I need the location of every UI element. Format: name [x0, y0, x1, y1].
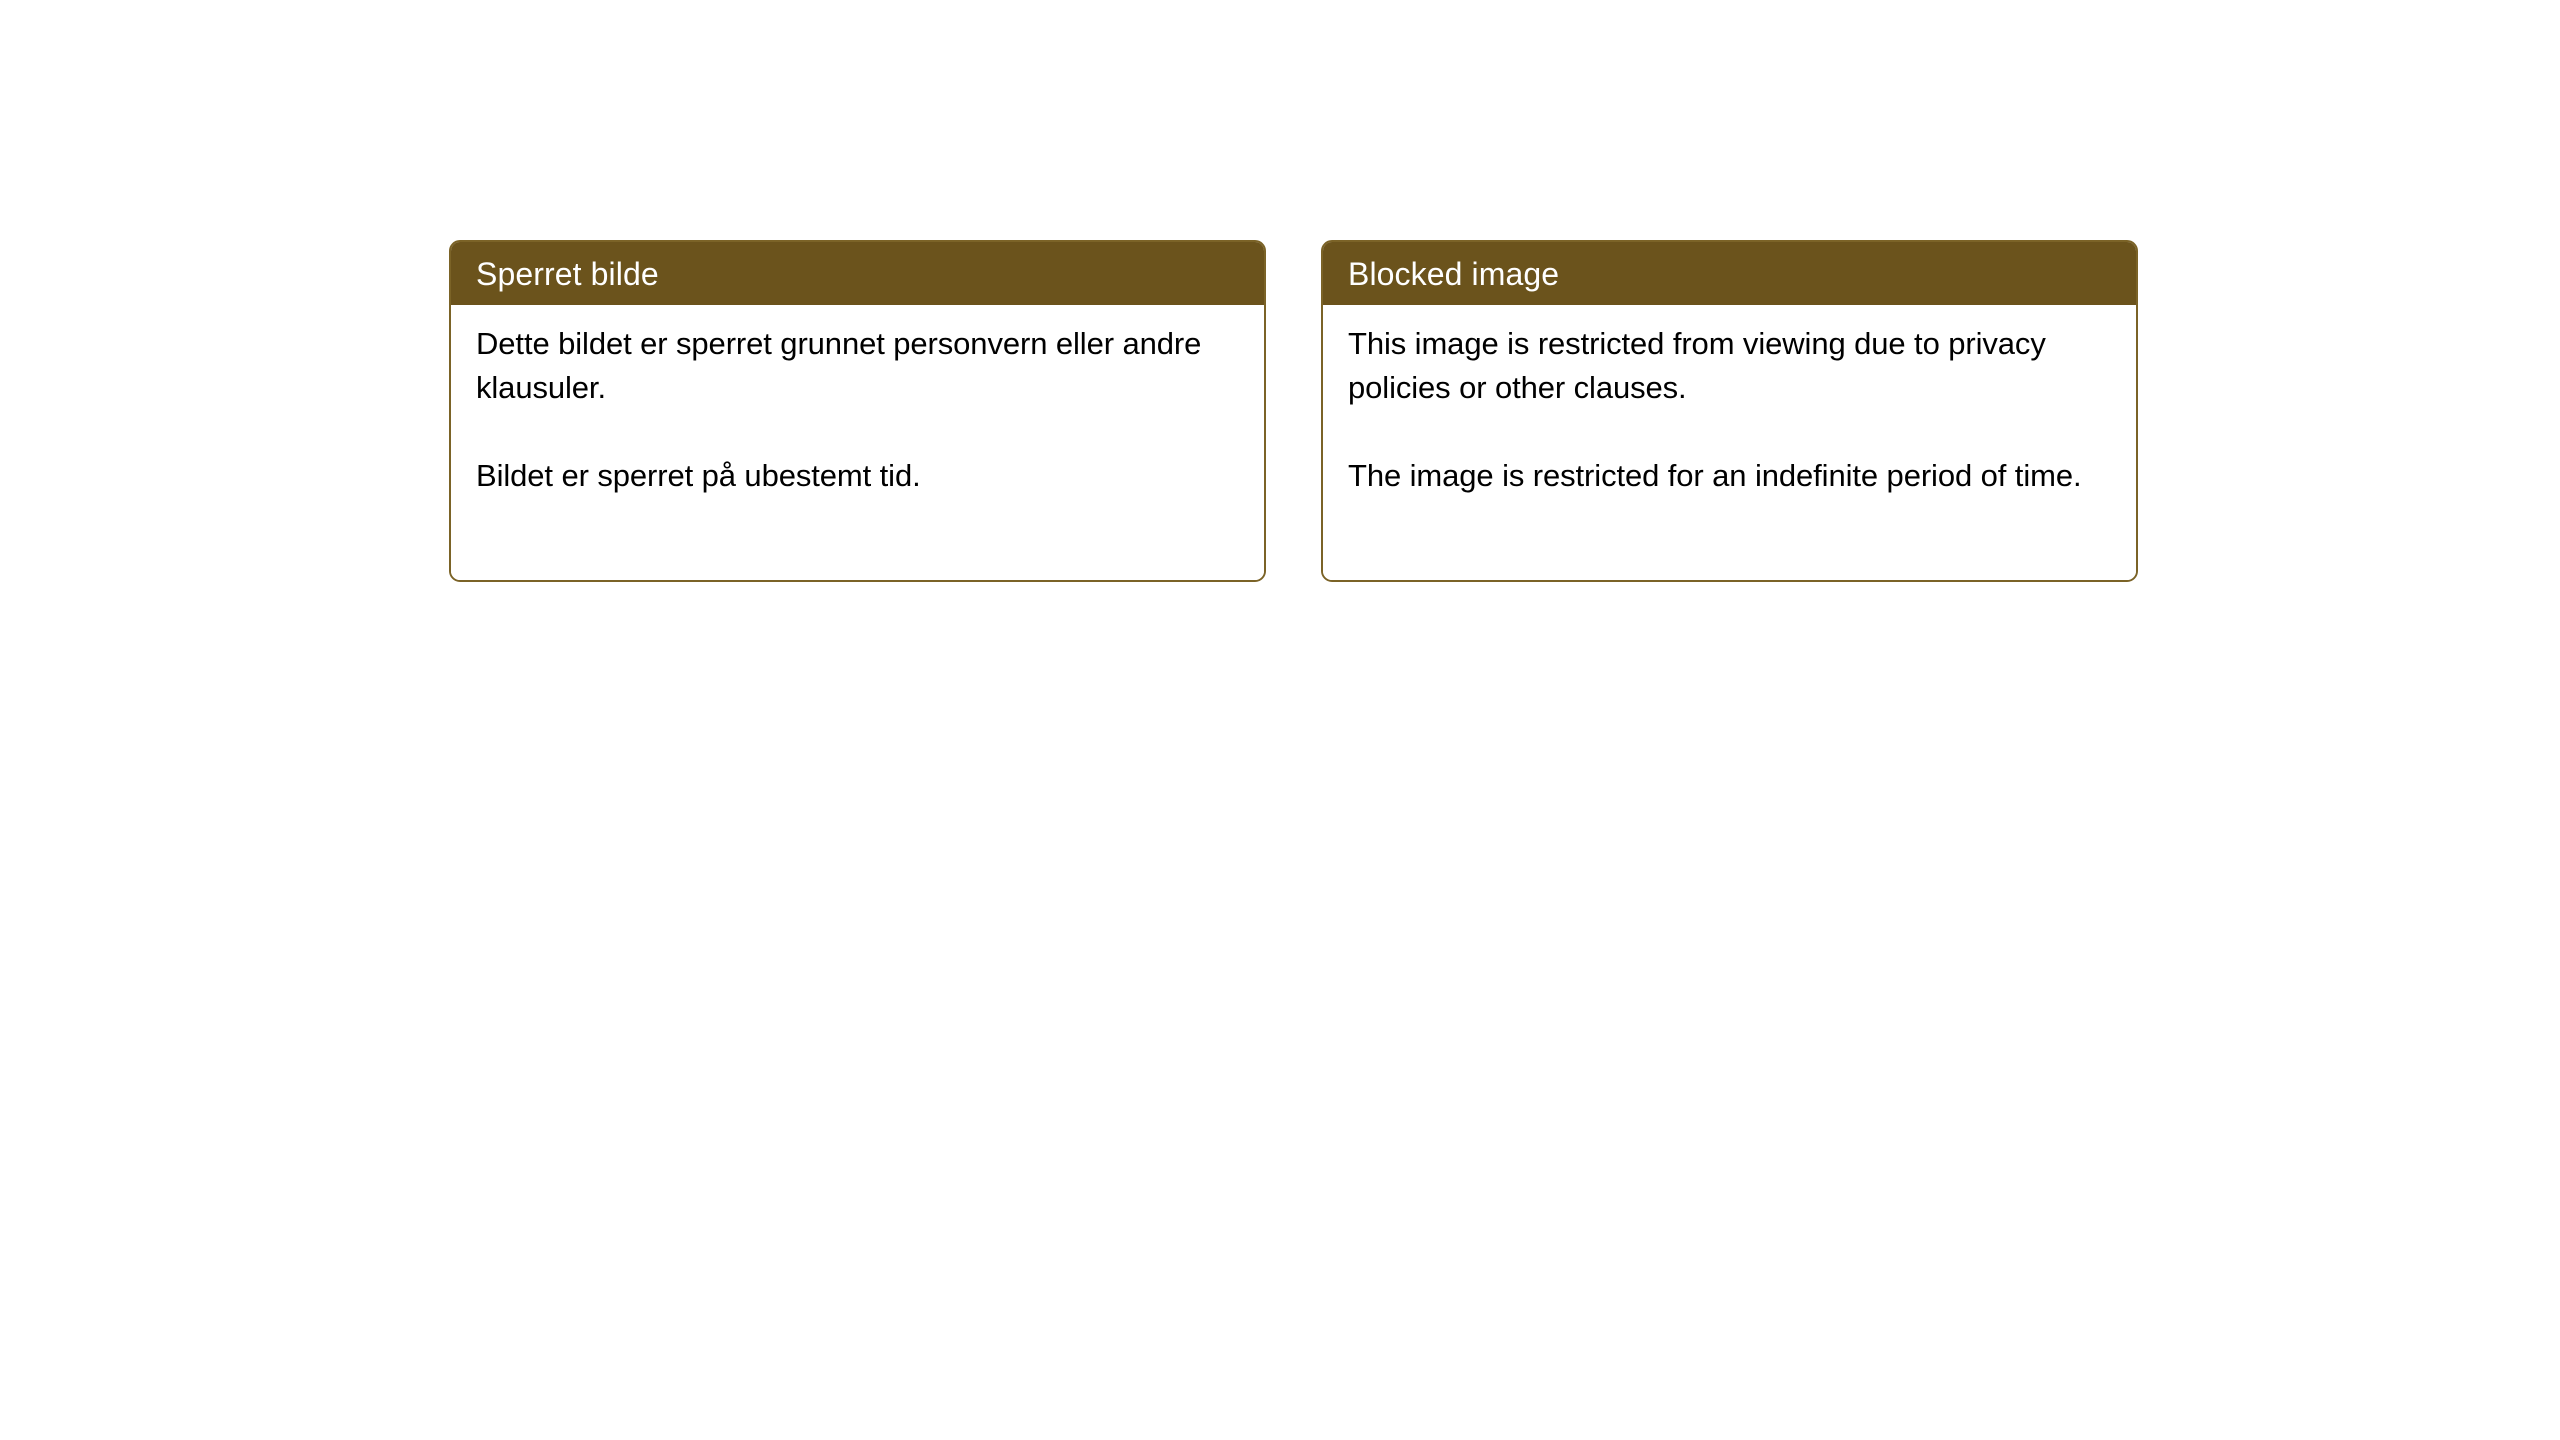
- card-title-english: Blocked image: [1348, 258, 1559, 290]
- blocked-image-notice-group: Sperret bilde Dette bildet er sperret gr…: [449, 240, 2138, 582]
- card-title-norwegian: Sperret bilde: [476, 258, 659, 290]
- card-body-norwegian: Dette bildet er sperret grunnet personve…: [451, 305, 1264, 580]
- card-paragraph-primary-english: This image is restricted from viewing du…: [1348, 322, 2114, 410]
- card-header-norwegian: Sperret bilde: [451, 242, 1264, 305]
- blocked-image-card-english: Blocked image This image is restricted f…: [1321, 240, 2138, 582]
- blocked-image-card-norwegian: Sperret bilde Dette bildet er sperret gr…: [449, 240, 1266, 582]
- card-paragraph-secondary-norwegian: Bildet er sperret på ubestemt tid.: [476, 454, 1242, 498]
- card-header-english: Blocked image: [1323, 242, 2136, 305]
- card-paragraph-primary-norwegian: Dette bildet er sperret grunnet personve…: [476, 322, 1242, 410]
- card-body-english: This image is restricted from viewing du…: [1323, 305, 2136, 580]
- card-paragraph-secondary-english: The image is restricted for an indefinit…: [1348, 454, 2114, 498]
